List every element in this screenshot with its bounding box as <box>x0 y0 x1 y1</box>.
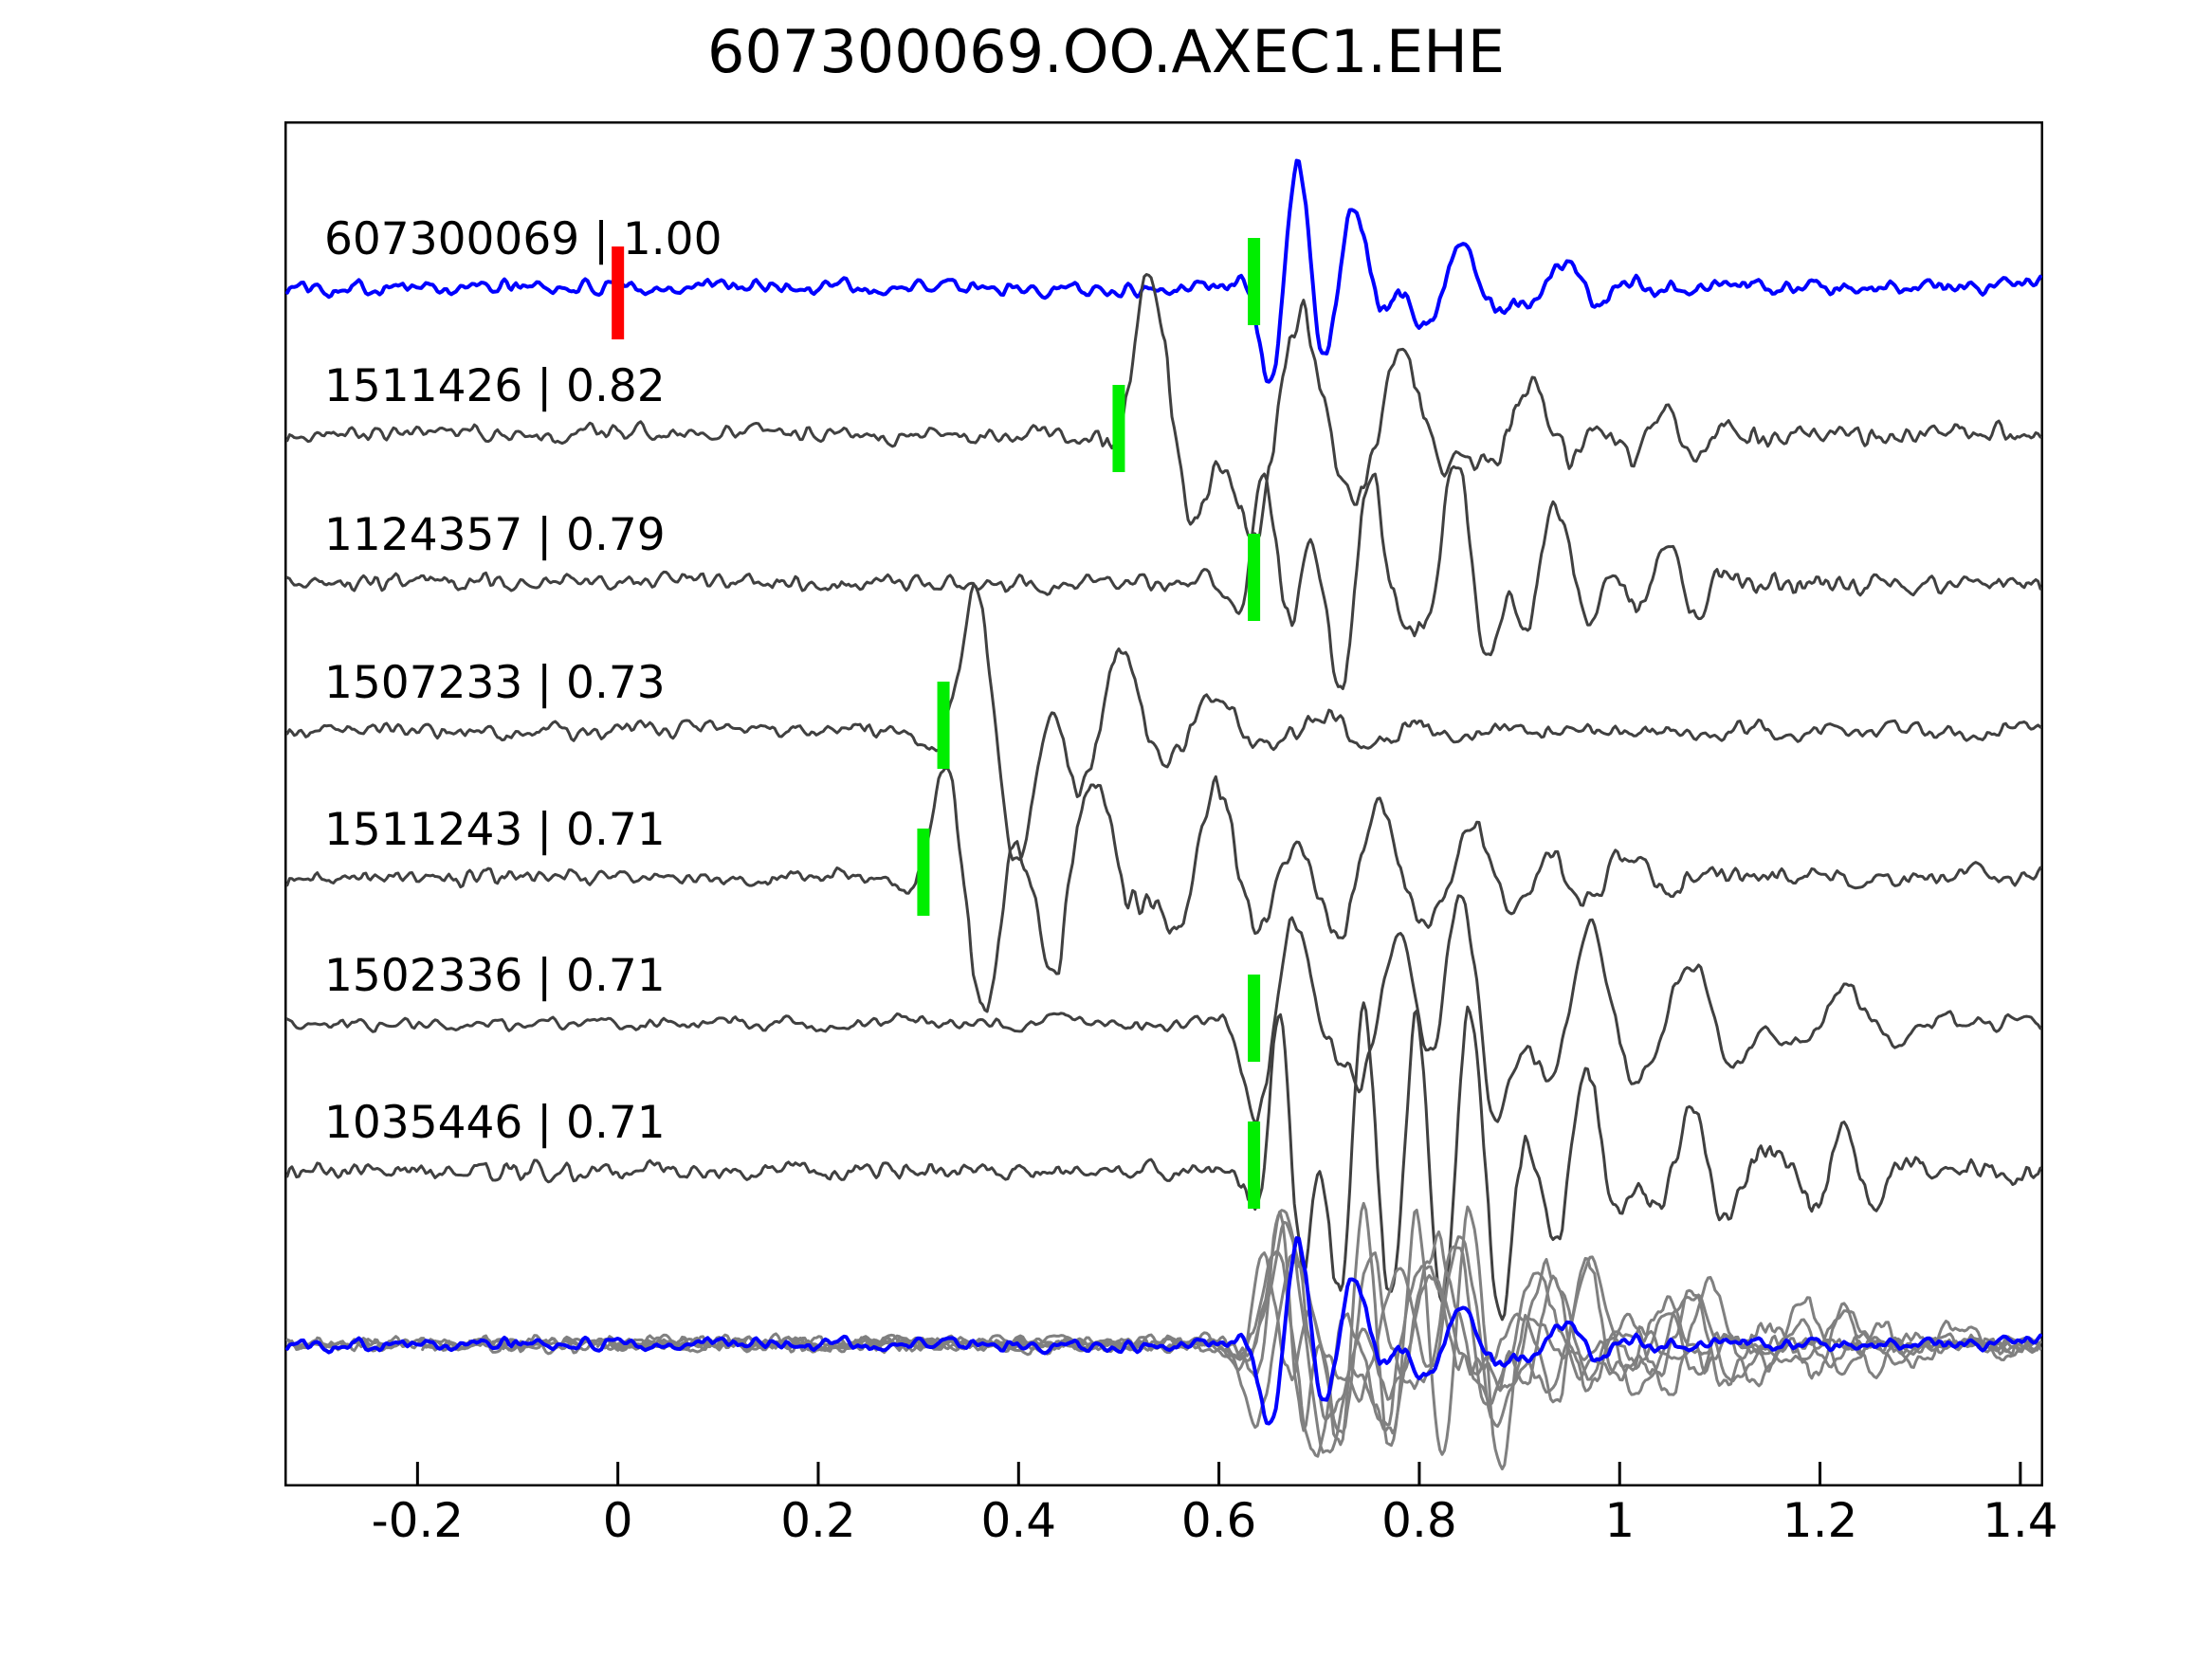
xtick-label-6: 1 <box>1604 1493 1635 1548</box>
xtick-label-3: 0.4 <box>981 1493 1057 1548</box>
xtick-label-1: 0 <box>603 1493 633 1548</box>
trace-label-1507233: 1507233 | 0.73 <box>324 657 666 709</box>
trace-label-607300069: 607300069 | 1.00 <box>324 213 722 265</box>
trace-label-1124357: 1124357 | 0.79 <box>324 509 666 561</box>
page-title: 607300069.OO.AXEC1.EHE <box>0 17 2212 86</box>
plot-area: 607300069 | 1.001511426 | 0.821124357 | … <box>284 121 2043 1486</box>
trace-label-1502336: 1502336 | 0.71 <box>324 950 666 1002</box>
xtick-label-4: 0.6 <box>1181 1493 1257 1548</box>
trace-label-1511426: 1511426 | 0.82 <box>324 360 666 412</box>
xtick-label-5: 0.8 <box>1381 1493 1457 1548</box>
xtick-label-2: 0.2 <box>780 1493 856 1548</box>
xaxis-tick-labels: -0.200.20.40.60.811.21.4 <box>284 1493 2043 1578</box>
trace-label-1035446: 1035446 | 0.71 <box>324 1097 666 1149</box>
xtick-label-8: 1.4 <box>1983 1493 2058 1548</box>
xtick-label-0: -0.2 <box>372 1493 465 1548</box>
figure-root: 607300069.OO.AXEC1.EHE 607300069 | 1.001… <box>0 0 2212 1659</box>
xtick-label-7: 1.2 <box>1782 1493 1858 1548</box>
trace-label-1511243: 1511243 | 0.71 <box>324 804 666 856</box>
